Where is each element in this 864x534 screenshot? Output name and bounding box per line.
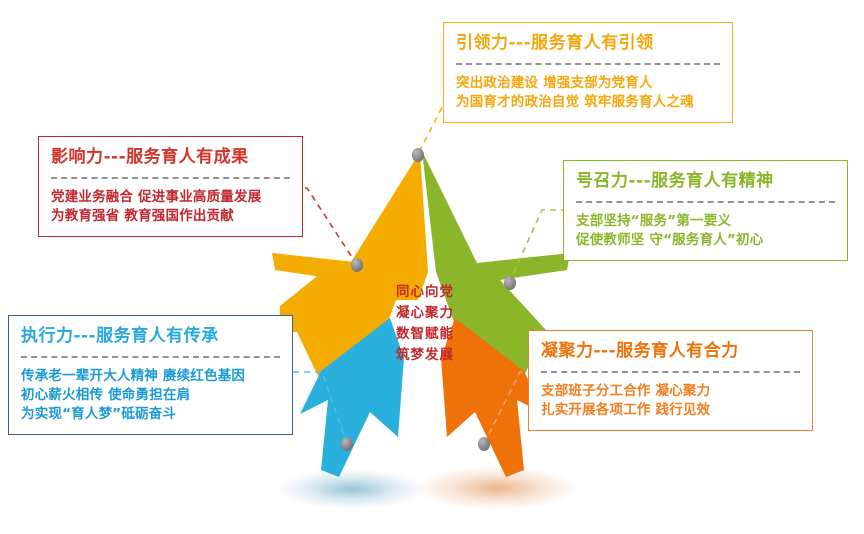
shadow-blue [277, 469, 427, 509]
connector-ningju [484, 372, 530, 444]
center-slogan-line-3: 数智赋能 [376, 324, 474, 345]
card-haozhao[interactable]: 号召力---服务育人有精神 支部坚持“服务”第一要义 促使教师坚 守“服务育人”… [563, 160, 848, 261]
center-slogan-line-2: 凝心聚力 [376, 303, 474, 324]
card-zhixing-divider [21, 356, 280, 358]
card-yingxiang-title: 影响力---服务育人有成果 [51, 146, 290, 168]
card-ningju[interactable]: 凝聚力---服务育人有合力 支部班子分工合作 凝心聚力 扎实开展各项工作 践行见… [528, 330, 813, 431]
card-yingxiang-line-2: 为教育强省 教育强国作出贡献 [51, 207, 290, 226]
card-zhixing-line-2: 初心薪火相传 使命勇担在肩 [21, 386, 280, 405]
card-ningju-line-2: 扎实开展各项工作 践行见效 [541, 401, 800, 420]
card-yinling-body: 突出政治建设 增强支部为党育人 为国育才的政治自觉 筑牢服务育人之魂 [456, 74, 720, 112]
card-zhixing-title: 执行力---服务育人有传承 [21, 325, 280, 347]
card-yinling-title: 引领力---服务育人有引领 [456, 32, 720, 54]
card-yinling-line-2: 为国育才的政治自觉 筑牢服务育人之魂 [456, 93, 720, 112]
card-haozhao-divider [576, 201, 835, 203]
center-slogan-line-1: 同心向党 [376, 282, 474, 303]
card-yinling-line-1: 突出政治建设 增强支部为党育人 [456, 74, 720, 93]
card-yinling-divider [456, 63, 720, 65]
center-slogan-line-4: 筑梦发展 [376, 345, 474, 366]
star-diagram-artwork [0, 0, 864, 534]
card-haozhao-line-2: 促使教师坚 守“服务育人”初心 [576, 231, 835, 250]
shadow-orange [414, 466, 580, 510]
card-yingxiang-divider [51, 177, 290, 179]
connector-zhixing [292, 372, 347, 444]
card-yinling[interactable]: 引领力---服务育人有引领 突出政治建设 增强支部为党育人 为国育才的政治自觉 … [443, 22, 733, 123]
card-haozhao-title: 号召力---服务育人有精神 [576, 170, 835, 192]
card-ningju-body: 支部班子分工合作 凝心聚力 扎实开展各项工作 践行见效 [541, 382, 800, 420]
card-zhixing-line-1: 传承老一辈开大人精神 赓续红色基因 [21, 367, 280, 386]
node-dot-left [351, 258, 363, 272]
card-zhixing-line-3: 为实现“育人梦”砥砺奋斗 [21, 405, 280, 424]
card-yingxiang-line-1: 党建业务融合 促进事业高质量发展 [51, 188, 290, 207]
node-dot-bottom-right [478, 437, 490, 451]
node-dot-top [412, 148, 424, 162]
card-yingxiang-body: 党建业务融合 促进事业高质量发展 为教育强省 教育强国作出贡献 [51, 188, 290, 226]
card-ningju-title: 凝聚力---服务育人有合力 [541, 340, 800, 362]
card-zhixing[interactable]: 执行力---服务育人有传承 传承老一辈开大人精神 赓续红色基因 初心薪火相传 使… [8, 315, 293, 435]
node-dot-bottom-left [341, 437, 353, 451]
card-ningju-divider [541, 371, 800, 373]
card-haozhao-line-1: 支部坚持“服务”第一要义 [576, 212, 835, 231]
connector-haozhao [509, 210, 565, 283]
center-slogan: 同心向党 凝心聚力 数智赋能 筑梦发展 [376, 282, 474, 366]
card-ningju-line-1: 支部班子分工合作 凝心聚力 [541, 382, 800, 401]
card-haozhao-body: 支部坚持“服务”第一要义 促使教师坚 守“服务育人”初心 [576, 212, 835, 250]
infographic-canvas: 同心向党 凝心聚力 数智赋能 筑梦发展 引领力---服务育人有引领 突出政治建设… [0, 0, 864, 534]
card-yingxiang[interactable]: 影响力---服务育人有成果 党建业务融合 促进事业高质量发展 为教育强省 教育强… [38, 136, 303, 237]
node-dot-right [504, 276, 516, 290]
card-zhixing-body: 传承老一辈开大人精神 赓续红色基因 初心薪火相传 使命勇担在肩 为实现“育人梦”… [21, 367, 280, 424]
